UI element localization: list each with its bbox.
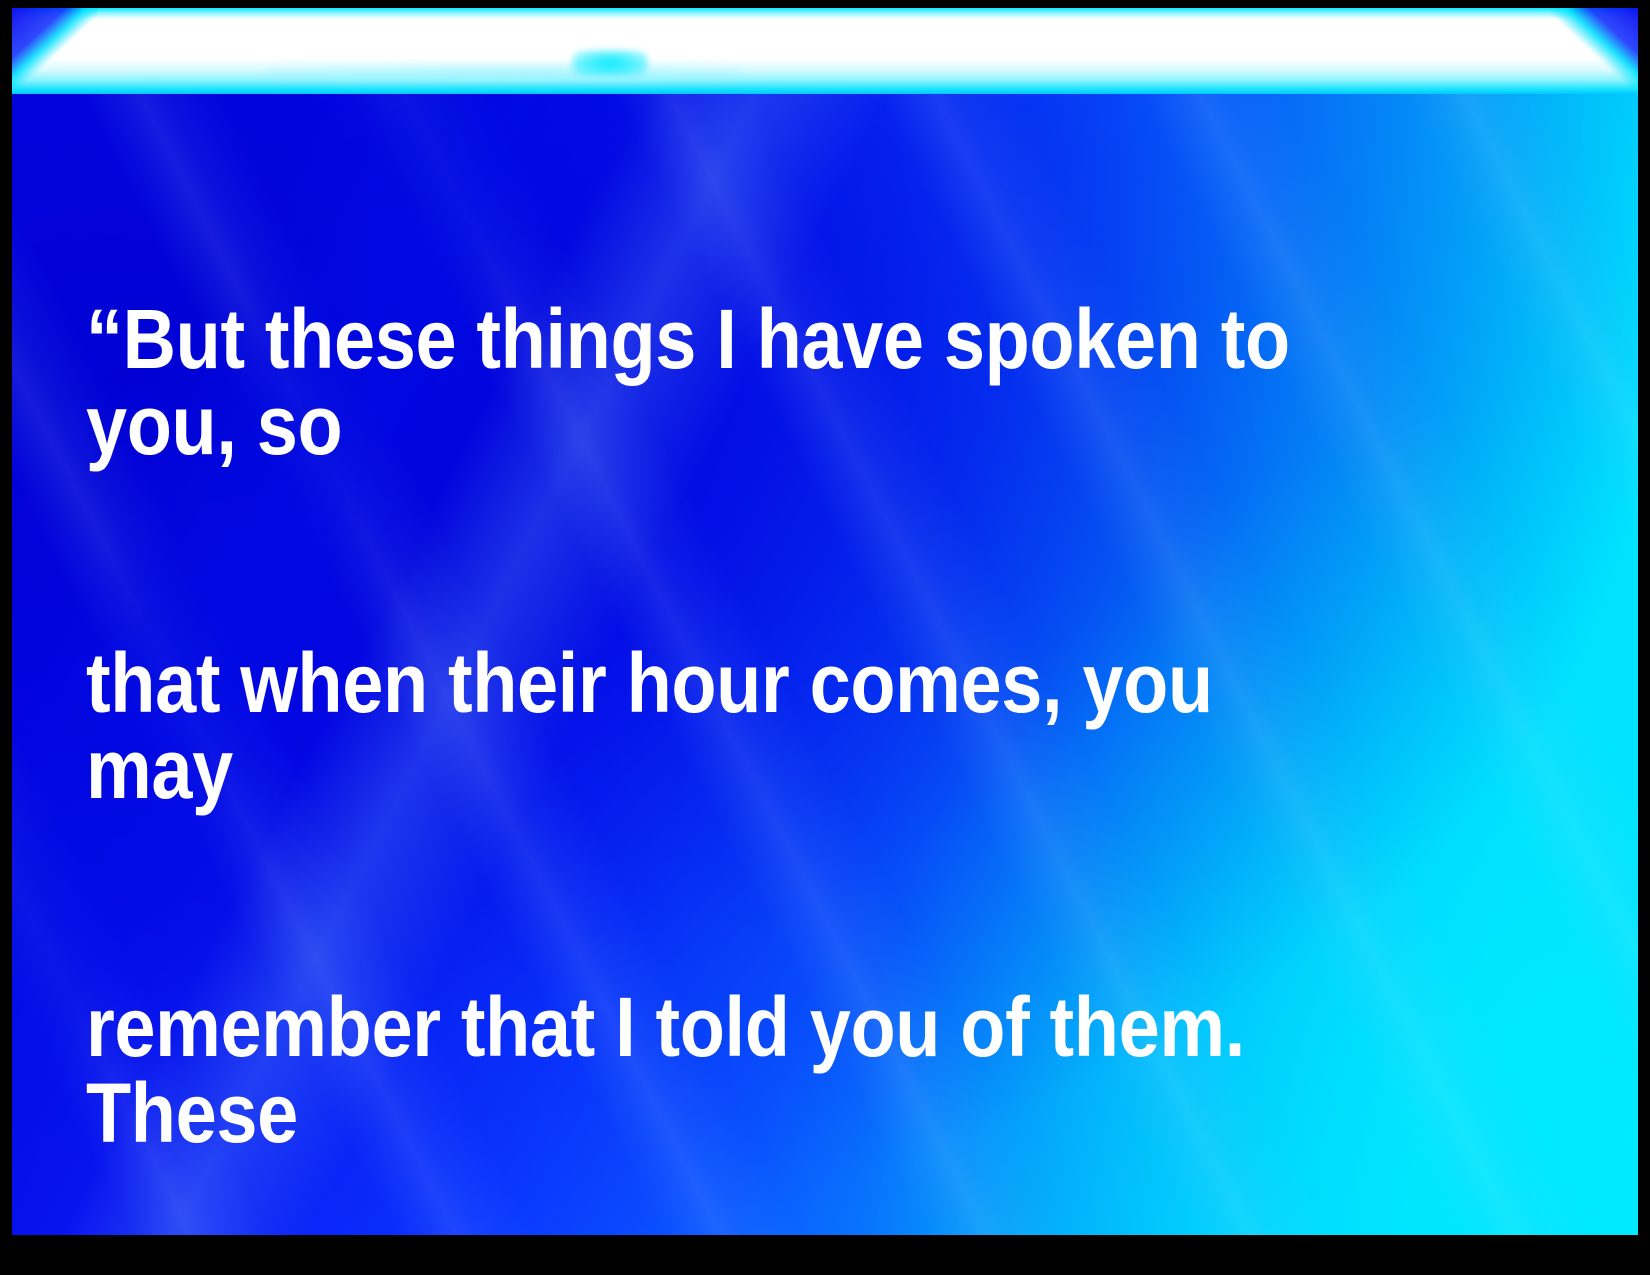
top-band-left-bevel <box>12 8 98 94</box>
verse-line-2: that when their hour comes, you may <box>86 640 1380 812</box>
top-band-cyan-blob <box>572 50 648 76</box>
verse-text-block: “But these things I have spoken to you, … <box>86 124 1380 1235</box>
slide-canvas: “But these things I have spoken to you, … <box>12 8 1638 1235</box>
verse-line-3: remember that I told you of them. These <box>86 984 1380 1156</box>
top-band-right-bevel <box>1542 8 1638 94</box>
verse-line-1: “But these things I have spoken to you, … <box>86 296 1380 468</box>
top-band-smear <box>262 66 742 82</box>
verse-slide: “But these things I have spoken to you, … <box>0 0 1650 1275</box>
top-glow-band <box>12 8 1638 94</box>
